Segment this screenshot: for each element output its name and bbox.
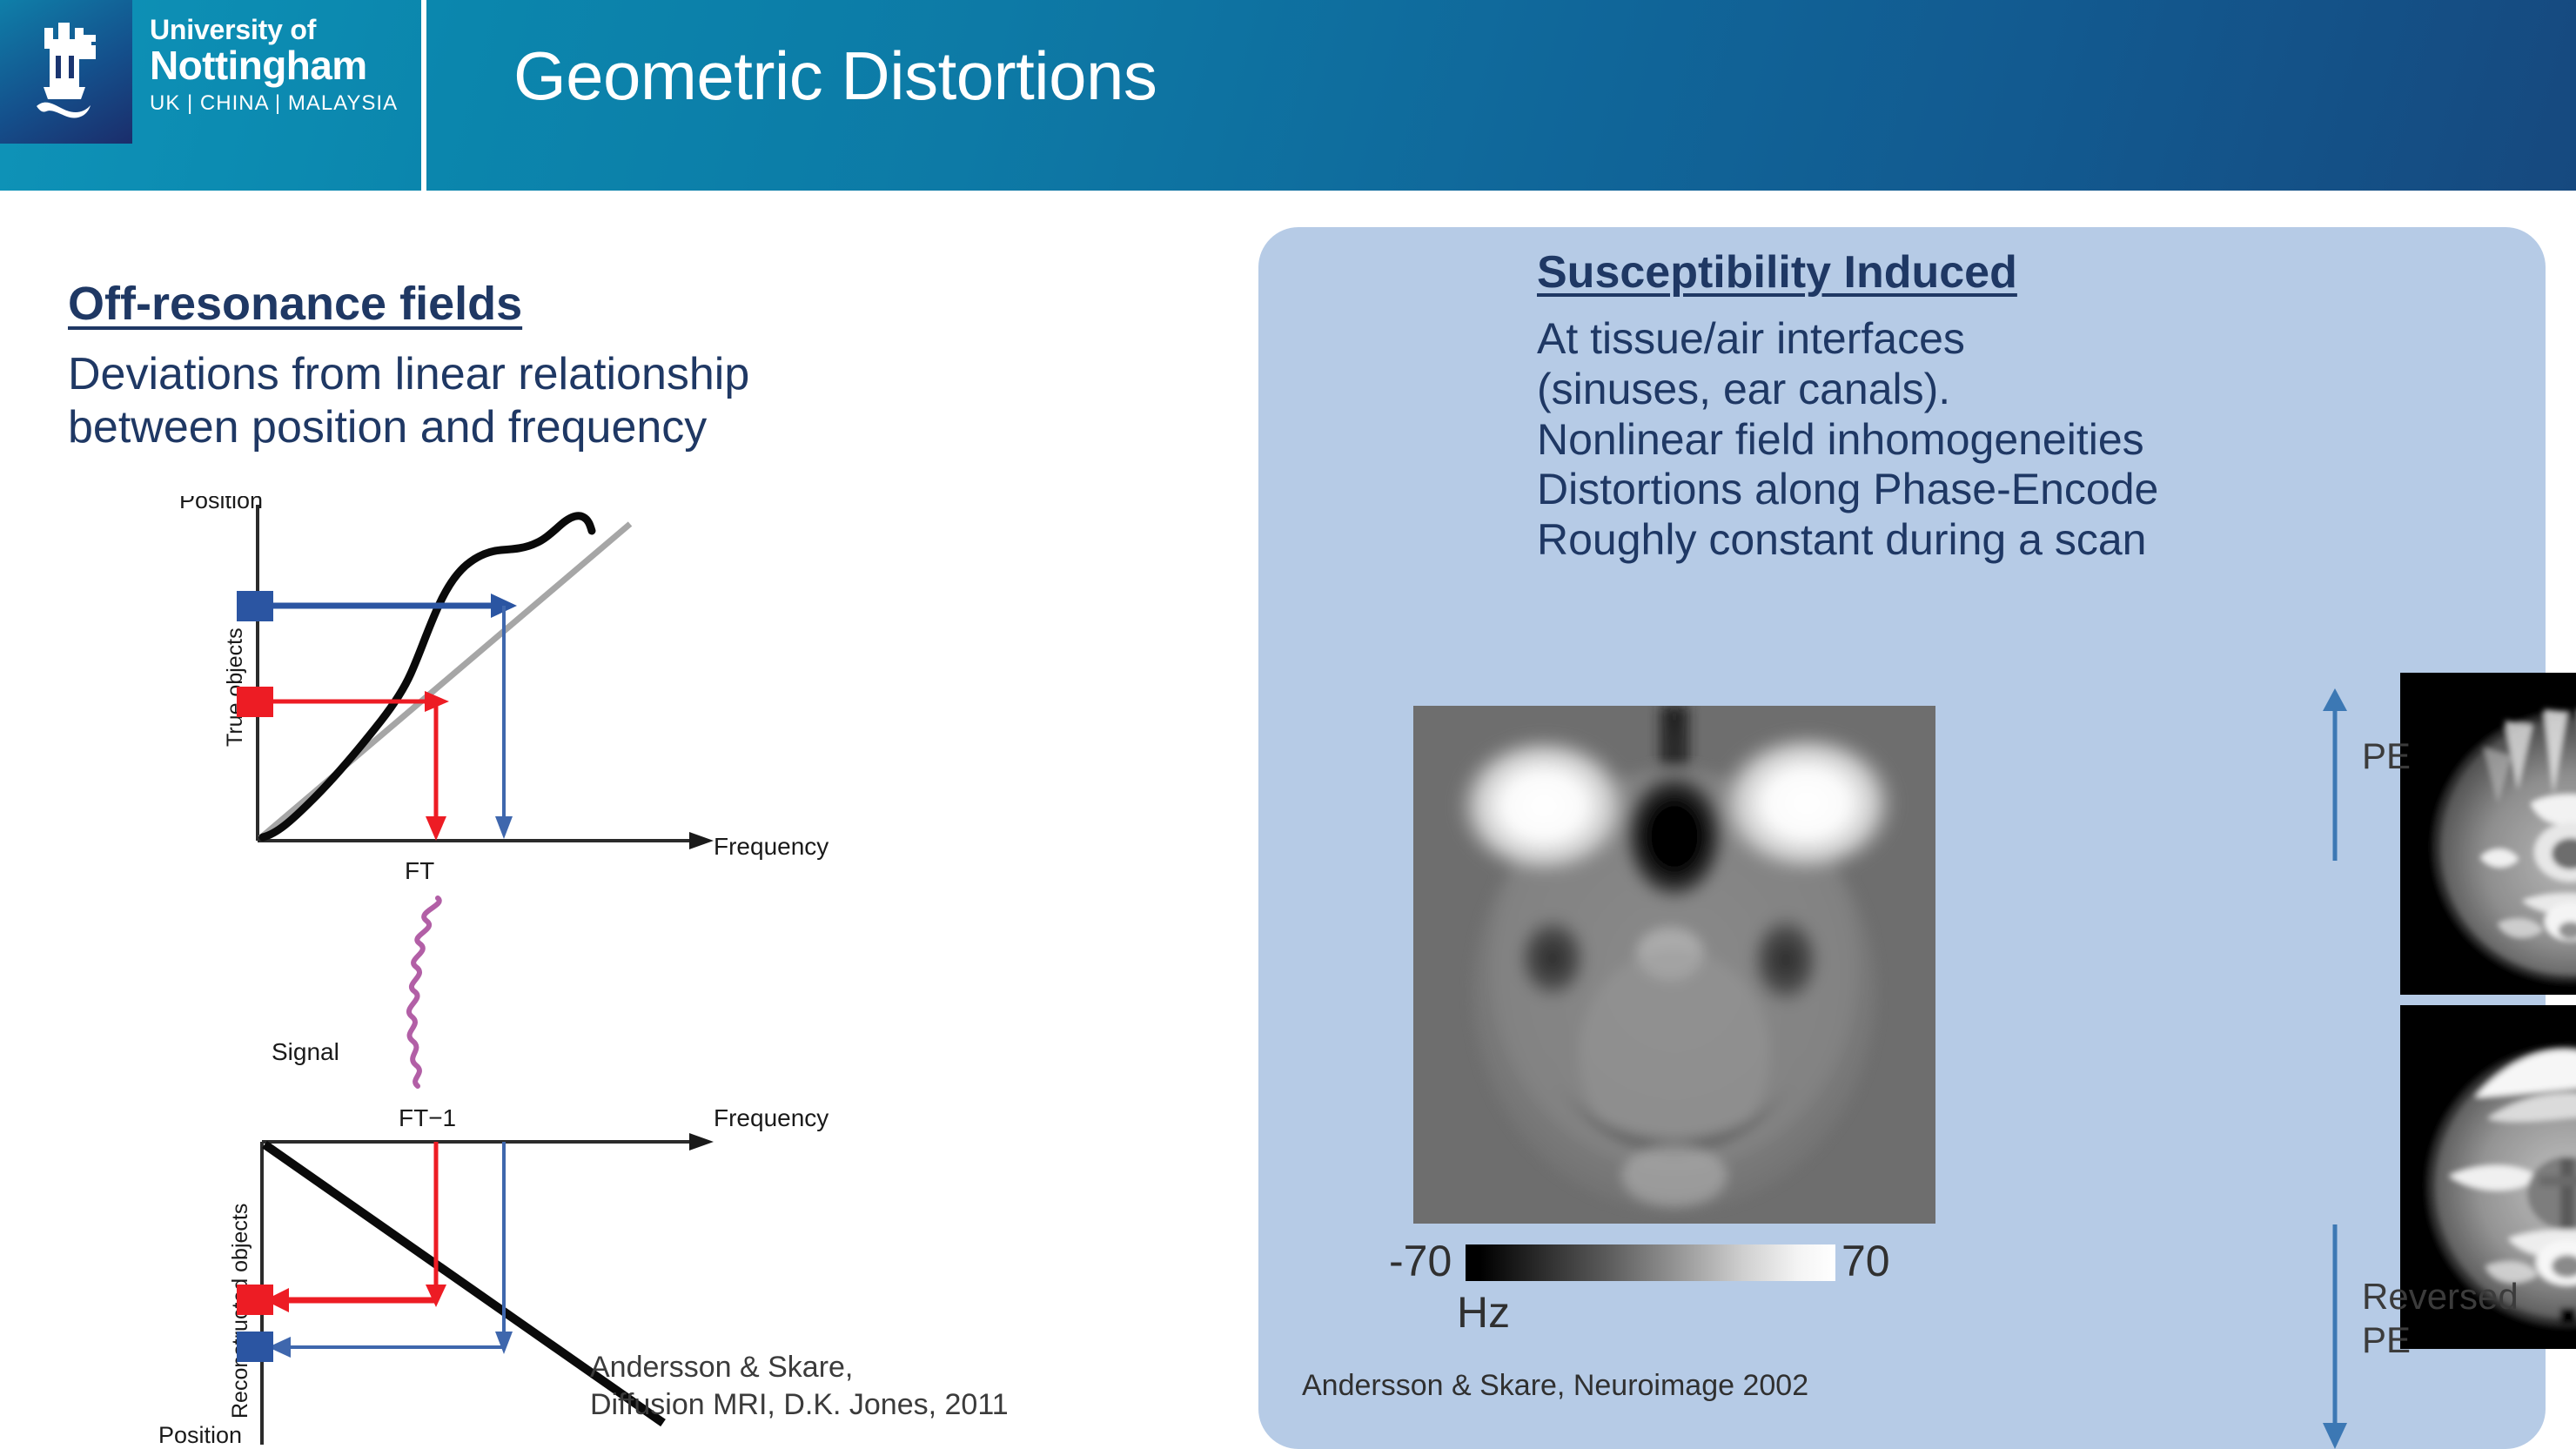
right-body-line-4: Distortions along Phase-Encode	[1537, 465, 2494, 515]
top-plot-ylabel: Position	[179, 496, 263, 513]
left-body-line-2: between position and frequency	[68, 401, 990, 454]
colorbar-max-label: 70	[1841, 1236, 1890, 1286]
bottom-plot-ylabel: Position	[158, 1422, 242, 1448]
signal-label: Signal	[272, 1038, 339, 1065]
b0-fieldmap-image	[1413, 706, 1935, 1224]
fieldmap-figure	[1413, 706, 1935, 1224]
pe-label: PE	[2362, 735, 2411, 777]
right-section-body: At tissue/air interfaces (sinuses, ear c…	[1537, 314, 2494, 566]
nottingham-castle-logo-icon	[33, 19, 104, 122]
university-line1: University of	[150, 16, 398, 44]
colorbar-gradient	[1466, 1244, 1835, 1281]
left-body-line-1: Deviations from linear relationship	[68, 348, 990, 401]
left-citation: Andersson & Skare, Diffusion MRI, D.K. J…	[590, 1349, 1009, 1423]
susceptibility-panel: Susceptibility Induced At tissue/air int…	[1258, 227, 2546, 1449]
top-plot-xlabel: Frequency	[714, 833, 828, 860]
left-section-body: Deviations from linear relationship betw…	[68, 348, 990, 455]
top-plot-red-marker	[237, 687, 273, 717]
header-divider	[421, 0, 426, 191]
left-citation-line-2: Diffusion MRI, D.K. Jones, 2011	[590, 1386, 1009, 1424]
bottom-plot-red-marker	[237, 1285, 273, 1315]
bottom-plot-blue-marker	[237, 1332, 273, 1362]
top-plot-blue-marker	[237, 591, 273, 621]
epi-brain-pe-image	[2400, 673, 2576, 995]
university-line2: Nottingham	[150, 45, 398, 85]
pe-direction-arrow-down-icon	[2318, 1224, 2352, 1449]
slide-header: University of Nottingham UK | CHINA | MA…	[0, 0, 2576, 191]
pe-direction-arrow-up-icon	[2318, 688, 2352, 862]
right-body-line-3: Nonlinear field inhomogeneities	[1537, 415, 2494, 466]
reversed-pe-label-line-1: Reversed	[2362, 1275, 2519, 1318]
ft-inverse-label: FT−1	[399, 1104, 456, 1131]
colorbar-min-label: -70	[1389, 1236, 1452, 1286]
reversed-pe-label-line-2: PE	[2362, 1318, 2519, 1362]
slide-root: University of Nottingham UK | CHINA | MA…	[0, 0, 2576, 1449]
fieldmap-colorbar: -70 70	[1389, 1239, 1963, 1288]
left-citation-line-1: Andersson & Skare,	[590, 1349, 1009, 1386]
right-citation: Andersson & Skare, Neuroimage 2002	[1302, 1369, 1808, 1403]
page-title: Geometric Distortions	[513, 37, 1157, 116]
left-section-heading: Off-resonance fields	[68, 277, 522, 331]
university-wordmark: University of Nottingham UK | CHINA | MA…	[150, 16, 398, 114]
right-body-line-1: At tissue/air interfaces	[1537, 314, 2494, 365]
right-body-line-5: Roughly constant during a scan	[1537, 515, 2494, 566]
reversed-pe-label: Reversed PE	[2362, 1275, 2519, 1361]
colorbar-unit-label: Hz	[1457, 1287, 1510, 1338]
bottom-plot-xlabel: Frequency	[714, 1104, 828, 1131]
right-body-line-2: (sinuses, ear canals).	[1537, 365, 2494, 415]
university-logo-block	[0, 0, 132, 144]
university-line3: UK | CHINA | MALAYSIA	[150, 93, 398, 114]
off-resonance-diagram: Position True objects Frequency FT Signa…	[104, 496, 1140, 1449]
ft-label: FT	[405, 857, 434, 884]
right-section-heading: Susceptibility Induced	[1537, 246, 2017, 299]
